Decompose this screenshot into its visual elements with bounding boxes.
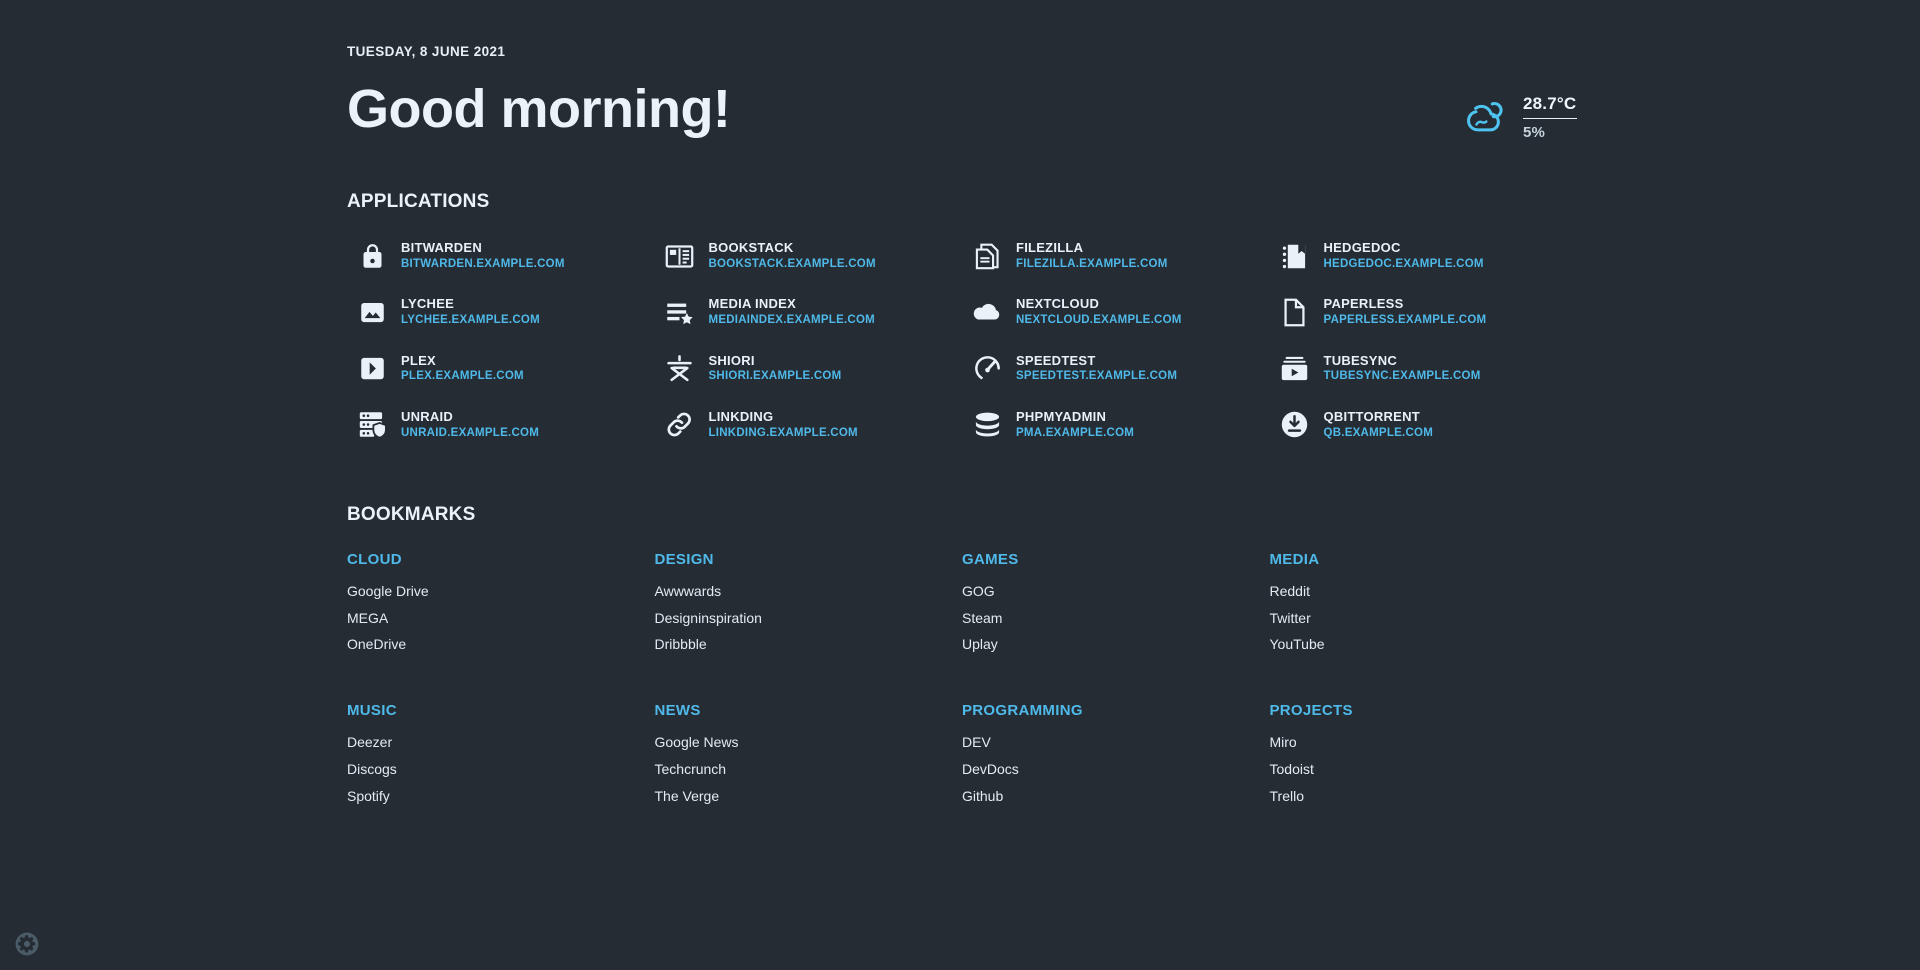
- bookmark-group: MEDIARedditTwitterYouTube: [1270, 551, 1520, 658]
- video-library-icon: [1280, 354, 1310, 384]
- weather-secondary-value: 5%: [1523, 119, 1577, 141]
- app-text: FILEZILLAFILEZILLA.EXAMPLE.COM: [1016, 241, 1168, 271]
- bookmark-link[interactable]: OneDrive: [347, 631, 597, 658]
- bookmark-link[interactable]: The Verge: [655, 783, 905, 810]
- bookmark-link[interactable]: Awwwards: [655, 578, 905, 605]
- applications-title: APPLICATIONS: [347, 191, 1577, 213]
- cloud-icon: [1463, 98, 1509, 138]
- bookmark-link[interactable]: Dribbble: [655, 631, 905, 658]
- app-card[interactable]: SHIORISHIORI.EXAMPLE.COM: [655, 348, 917, 390]
- app-card[interactable]: TUBESYNCTUBESYNC.EXAMPLE.COM: [1270, 348, 1532, 390]
- bookmark-link[interactable]: Twitter: [1270, 605, 1520, 632]
- content-container: TUESDAY, 8 JUNE 2021 Good morning! 28.7°…: [347, 0, 1577, 810]
- bookmark-link[interactable]: Google Drive: [347, 578, 597, 605]
- app-card[interactable]: QBITTORRENTQB.EXAMPLE.COM: [1270, 404, 1532, 446]
- lock-icon: [357, 241, 387, 271]
- app-name: LYCHEE: [401, 297, 540, 312]
- app-text: NEXTCLOUDNEXTCLOUD.EXAMPLE.COM: [1016, 297, 1182, 327]
- app-card[interactable]: MEDIA INDEXMEDIAINDEX.EXAMPLE.COM: [655, 291, 917, 333]
- bookmark-link[interactable]: Steam: [962, 605, 1212, 632]
- app-text: PHPMYADMINPMA.EXAMPLE.COM: [1016, 410, 1134, 440]
- greeting-message: Good morning!: [347, 81, 1577, 138]
- bookmark-link[interactable]: MEGA: [347, 605, 597, 632]
- app-name: MEDIA INDEX: [709, 297, 876, 312]
- app-text: BITWARDENBITWARDEN.EXAMPLE.COM: [401, 241, 565, 271]
- app-text: SPEEDTESTSPEEDTEST.EXAMPLE.COM: [1016, 354, 1177, 384]
- bookmark-link[interactable]: Techcrunch: [655, 756, 905, 783]
- app-text: MEDIA INDEXMEDIAINDEX.EXAMPLE.COM: [709, 297, 876, 327]
- app-text: PLEXPLEX.EXAMPLE.COM: [401, 354, 524, 384]
- app-card[interactable]: LYCHEELYCHEE.EXAMPLE.COM: [347, 291, 609, 333]
- app-name: FILEZILLA: [1016, 241, 1168, 256]
- bookmark-link[interactable]: Reddit: [1270, 578, 1520, 605]
- app-name: TUBESYNC: [1324, 354, 1481, 369]
- app-text: LINKDINGLINKDING.EXAMPLE.COM: [709, 410, 858, 440]
- app-text: SHIORISHIORI.EXAMPLE.COM: [709, 354, 842, 384]
- app-name: QBITTORRENT: [1324, 410, 1434, 425]
- plex-chevron-icon: [357, 354, 387, 384]
- app-name: HEDGEDOC: [1324, 241, 1484, 256]
- app-name: SPEEDTEST: [1016, 354, 1177, 369]
- bookmark-group: PROGRAMMINGDEVDevDocsGithub: [962, 702, 1212, 809]
- bookmark-group-title: GAMES: [962, 551, 1212, 568]
- bookmark-link[interactable]: Designinspiration: [655, 605, 905, 632]
- app-card[interactable]: BOOKSTACKBOOKSTACK.EXAMPLE.COM: [655, 235, 917, 277]
- app-text: BOOKSTACKBOOKSTACK.EXAMPLE.COM: [709, 241, 876, 271]
- bookmark-group-title: PROJECTS: [1270, 702, 1520, 719]
- bookmark-link[interactable]: Uplay: [962, 631, 1212, 658]
- bookmark-group-title: PROGRAMMING: [962, 702, 1212, 719]
- notebook-icon: [1280, 241, 1310, 271]
- bookmark-link[interactable]: DEV: [962, 729, 1212, 756]
- app-card[interactable]: PAPERLESSPAPERLESS.EXAMPLE.COM: [1270, 291, 1532, 333]
- app-text: LYCHEELYCHEE.EXAMPLE.COM: [401, 297, 540, 327]
- app-url: MEDIAINDEX.EXAMPLE.COM: [709, 314, 876, 327]
- app-card[interactable]: NEXTCLOUDNEXTCLOUD.EXAMPLE.COM: [962, 291, 1224, 333]
- bookmark-link[interactable]: Miro: [1270, 729, 1520, 756]
- header: TUESDAY, 8 JUNE 2021 Good morning! 28.7°…: [347, 0, 1577, 138]
- app-url: SHIORI.EXAMPLE.COM: [709, 370, 842, 383]
- app-url: QB.EXAMPLE.COM: [1324, 427, 1434, 440]
- bookmarks-section: BOOKMARKS CLOUDGoogle DriveMEGAOneDriveD…: [347, 504, 1577, 810]
- applications-section: APPLICATIONS BITWARDENBITWARDEN.EXAMPLE.…: [347, 191, 1577, 446]
- bookmark-group: DESIGNAwwwardsDesigninspirationDribbble: [655, 551, 905, 658]
- bookmark-link[interactable]: YouTube: [1270, 631, 1520, 658]
- weather-widget: 28.7°C 5%: [1463, 94, 1577, 141]
- app-url: BITWARDEN.EXAMPLE.COM: [401, 258, 565, 271]
- bookmark-link[interactable]: GOG: [962, 578, 1212, 605]
- app-card[interactable]: SPEEDTESTSPEEDTEST.EXAMPLE.COM: [962, 348, 1224, 390]
- bookmark-group-title: MUSIC: [347, 702, 597, 719]
- app-url: HEDGEDOC.EXAMPLE.COM: [1324, 258, 1484, 271]
- app-url: BOOKSTACK.EXAMPLE.COM: [709, 258, 876, 271]
- app-name: NEXTCLOUD: [1016, 297, 1182, 312]
- app-text: UNRAIDUNRAID.EXAMPLE.COM: [401, 410, 539, 440]
- app-url: PLEX.EXAMPLE.COM: [401, 370, 524, 383]
- cloud-filled-icon: [972, 297, 1002, 327]
- book-open-icon: [665, 241, 695, 271]
- weather-readouts: 28.7°C 5%: [1523, 94, 1577, 141]
- app-name: SHIORI: [709, 354, 842, 369]
- app-url: PAPERLESS.EXAMPLE.COM: [1324, 314, 1487, 327]
- speedometer-icon: [972, 354, 1002, 384]
- app-name: PAPERLESS: [1324, 297, 1487, 312]
- app-card[interactable]: LINKDINGLINKDING.EXAMPLE.COM: [655, 404, 917, 446]
- bookmark-link[interactable]: Trello: [1270, 783, 1520, 810]
- current-date: TUESDAY, 8 JUNE 2021: [347, 44, 1577, 59]
- bookmark-group: GAMESGOGSteamUplay: [962, 551, 1212, 658]
- list-star-icon: [665, 297, 695, 327]
- gear-icon: [14, 931, 40, 957]
- app-url: SPEEDTEST.EXAMPLE.COM: [1016, 370, 1177, 383]
- database-icon: [972, 410, 1002, 440]
- app-url: UNRAID.EXAMPLE.COM: [401, 427, 539, 440]
- bookmark-group: MUSICDeezerDiscogsSpotify: [347, 702, 597, 809]
- bookmark-group: NEWSGoogle NewsTechcrunchThe Verge: [655, 702, 905, 809]
- bookmark-link[interactable]: Deezer: [347, 729, 597, 756]
- app-url: LINKDING.EXAMPLE.COM: [709, 427, 858, 440]
- bookmark-link[interactable]: Google News: [655, 729, 905, 756]
- bookmark-link[interactable]: Todoist: [1270, 756, 1520, 783]
- dashboard-page: TUESDAY, 8 JUNE 2021 Good morning! 28.7°…: [0, 0, 1920, 970]
- applications-grid: BITWARDENBITWARDEN.EXAMPLE.COMBOOKSTACKB…: [347, 235, 1577, 446]
- link-chain-icon: [665, 410, 695, 440]
- app-card[interactable]: BITWARDENBITWARDEN.EXAMPLE.COM: [347, 235, 609, 277]
- app-text: TUBESYNCTUBESYNC.EXAMPLE.COM: [1324, 354, 1481, 384]
- app-name: BITWARDEN: [401, 241, 565, 256]
- app-name: PHPMYADMIN: [1016, 410, 1134, 425]
- settings-button[interactable]: [13, 930, 41, 958]
- file-copy-icon: [972, 241, 1002, 271]
- bookmark-group: PROJECTSMiroTodoistTrello: [1270, 702, 1520, 809]
- app-url: NEXTCLOUD.EXAMPLE.COM: [1016, 314, 1182, 327]
- kanji-bun-icon: [665, 354, 695, 384]
- app-card[interactable]: UNRAIDUNRAID.EXAMPLE.COM: [347, 404, 609, 446]
- app-card[interactable]: FILEZILLAFILEZILLA.EXAMPLE.COM: [962, 235, 1224, 277]
- app-card[interactable]: PHPMYADMINPMA.EXAMPLE.COM: [962, 404, 1224, 446]
- app-text: QBITTORRENTQB.EXAMPLE.COM: [1324, 410, 1434, 440]
- app-text: HEDGEDOCHEDGEDOC.EXAMPLE.COM: [1324, 241, 1484, 271]
- bookmark-group-title: NEWS: [655, 702, 905, 719]
- app-name: PLEX: [401, 354, 524, 369]
- bookmark-link[interactable]: Spotify: [347, 783, 597, 810]
- bookmarks-grid: CLOUDGoogle DriveMEGAOneDriveDESIGNAwwwa…: [347, 551, 1577, 810]
- download-circle-icon: [1280, 410, 1310, 440]
- bookmarks-title: BOOKMARKS: [347, 504, 1577, 526]
- app-text: PAPERLESSPAPERLESS.EXAMPLE.COM: [1324, 297, 1487, 327]
- app-name: LINKDING: [709, 410, 858, 425]
- bookmark-group-title: MEDIA: [1270, 551, 1520, 568]
- app-url: FILEZILLA.EXAMPLE.COM: [1016, 258, 1168, 271]
- bookmark-link[interactable]: Github: [962, 783, 1212, 810]
- app-url: LYCHEE.EXAMPLE.COM: [401, 314, 540, 327]
- bookmark-group-title: DESIGN: [655, 551, 905, 568]
- app-name: BOOKSTACK: [709, 241, 876, 256]
- bookmark-group: CLOUDGoogle DriveMEGAOneDrive: [347, 551, 597, 658]
- bookmark-group-title: CLOUD: [347, 551, 597, 568]
- app-card[interactable]: HEDGEDOCHEDGEDOC.EXAMPLE.COM: [1270, 235, 1532, 277]
- weather-temperature: 28.7°C: [1523, 94, 1577, 119]
- app-url: TUBESYNC.EXAMPLE.COM: [1324, 370, 1481, 383]
- app-name: UNRAID: [401, 410, 539, 425]
- server-shield-icon: [357, 410, 387, 440]
- bookmark-link[interactable]: DevDocs: [962, 756, 1212, 783]
- document-icon: [1280, 297, 1310, 327]
- image-icon: [357, 297, 387, 327]
- app-url: PMA.EXAMPLE.COM: [1016, 427, 1134, 440]
- bookmark-link[interactable]: Discogs: [347, 756, 597, 783]
- app-card[interactable]: PLEXPLEX.EXAMPLE.COM: [347, 348, 609, 390]
